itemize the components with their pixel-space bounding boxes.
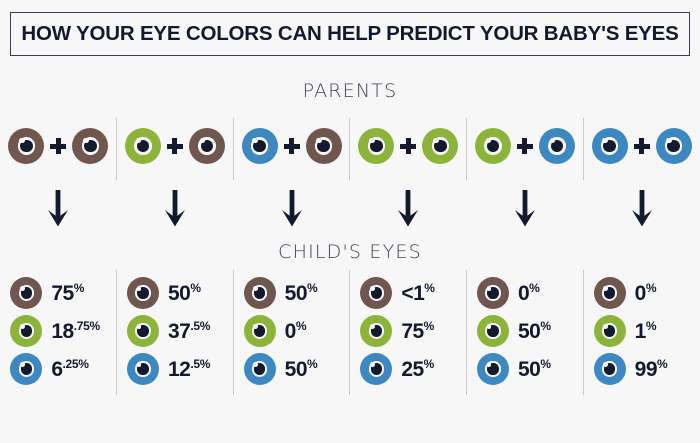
eye-sclera — [135, 361, 150, 376]
eye-glint — [602, 138, 607, 143]
title-banner: HOW YOUR EYE COLORS CAN HELP PREDICT YOU… — [10, 12, 690, 56]
eye-glint — [370, 324, 375, 329]
eye-glint — [137, 286, 142, 291]
child-result-row: 0% — [594, 277, 690, 309]
child-percentage: 0% — [518, 282, 540, 304]
plus-icon — [284, 138, 300, 154]
eye-pupil — [201, 140, 214, 153]
parent-green-eye — [358, 128, 394, 164]
child-green-eye — [477, 315, 509, 347]
eye-pupil — [604, 287, 616, 299]
plus-icon — [517, 138, 533, 154]
arrow-container — [583, 190, 700, 228]
eye-sclera — [485, 361, 500, 376]
parent-pair-3 — [233, 126, 350, 166]
parent-green-eye — [475, 128, 511, 164]
eye-sclera — [485, 323, 500, 338]
eye-sclera — [369, 285, 384, 300]
eye-glint — [20, 324, 25, 329]
down-arrow-icon — [397, 190, 419, 228]
percentage-suffix: % — [296, 319, 306, 333]
eye-pupil — [371, 287, 383, 299]
column-divider — [349, 270, 350, 395]
down-arrow-icon — [631, 190, 653, 228]
child-result-row: 25% — [360, 353, 456, 385]
child-percentage: 50% — [168, 282, 201, 304]
child-result-row: 37.5% — [127, 315, 223, 347]
eye-sclera — [252, 361, 267, 376]
child-blue-eye — [477, 353, 509, 385]
eye-sclera — [315, 137, 332, 154]
child-percentage: 50% — [285, 282, 318, 304]
prediction-column-2: 50%37.5%12.5% — [117, 0, 234, 443]
eye-pupil — [21, 363, 33, 375]
parent-pair-6 — [583, 126, 700, 166]
eye-sclera — [252, 285, 267, 300]
eye-sclera — [19, 323, 34, 338]
child-result-row: 75% — [10, 277, 106, 309]
arrow-container — [467, 190, 584, 228]
column-divider — [116, 270, 117, 395]
eye-pupil — [487, 287, 499, 299]
child-result-row: 50% — [244, 353, 340, 385]
eye-sclera — [135, 285, 150, 300]
percentage-suffix: % — [424, 281, 434, 295]
percentage-suffix: % — [529, 281, 539, 295]
child-blue-eye — [360, 353, 392, 385]
child-percentage: 6.25% — [51, 358, 88, 380]
child-result-row: 12.5% — [127, 353, 223, 385]
eye-glint — [370, 286, 375, 291]
eye-sclera — [252, 323, 267, 338]
eye-sclera — [602, 285, 617, 300]
eye-pupil — [21, 287, 33, 299]
eye-pupil — [21, 325, 33, 337]
child-result-row: 0% — [244, 315, 340, 347]
eye-glint — [487, 324, 492, 329]
eye-glint — [20, 362, 25, 367]
child-result-row: 50% — [477, 315, 573, 347]
eye-sclera — [432, 137, 449, 154]
child-eyes-section-label: CHILD'S EYES — [0, 241, 700, 263]
eye-pupil — [371, 325, 383, 337]
eye-glint — [137, 324, 142, 329]
eye-sclera — [19, 285, 34, 300]
column-divider — [583, 118, 584, 180]
child-results-3: 50%0%50% — [233, 277, 350, 385]
eye-pupil — [20, 140, 33, 153]
child-result-row: 75% — [360, 315, 456, 347]
percentage-suffix: % — [646, 281, 656, 295]
prediction-column-1: 75%18.75%6.25% — [0, 0, 117, 443]
eye-glint — [20, 286, 25, 291]
eye-glint — [253, 286, 258, 291]
percentage-suffix: .5% — [190, 319, 210, 333]
eye-pupil — [604, 325, 616, 337]
child-green-eye — [594, 315, 626, 347]
eye-pupil — [551, 140, 564, 153]
child-green-eye — [127, 315, 159, 347]
eye-glint — [253, 324, 258, 329]
parent-pair-1 — [0, 126, 117, 166]
eye-pupil — [370, 140, 383, 153]
eye-glint — [487, 362, 492, 367]
percentage-suffix: .25% — [63, 357, 89, 371]
parent-pair-5 — [467, 126, 584, 166]
eye-sclera — [601, 137, 618, 154]
arrow-container — [233, 190, 350, 228]
parent-pair-4 — [350, 126, 467, 166]
eye-glint — [666, 138, 671, 143]
child-percentage: 50% — [518, 320, 551, 342]
prediction-column-4: <1%75%25% — [350, 0, 467, 443]
eye-pupil — [137, 325, 149, 337]
eye-sclera — [368, 137, 385, 154]
eye-glint — [200, 138, 205, 143]
eye-glint — [253, 362, 258, 367]
child-results-5: 0%50%50% — [467, 277, 584, 385]
eye-pupil — [84, 140, 97, 153]
child-percentage: 1% — [635, 320, 657, 342]
eye-pupil — [667, 140, 680, 153]
percentage-suffix: % — [307, 281, 317, 295]
eye-sclera — [485, 285, 500, 300]
eye-sclera — [251, 137, 268, 154]
child-percentage: 18.75% — [51, 320, 100, 342]
plus-icon — [400, 138, 416, 154]
child-percentage: <1% — [401, 282, 434, 304]
parent-green-eye — [422, 128, 458, 164]
eye-sclera — [19, 361, 34, 376]
child-blue-eye — [594, 353, 626, 385]
eye-sclera — [484, 137, 501, 154]
eye-glint — [603, 324, 608, 329]
eye-glint — [136, 138, 141, 143]
column-divider — [233, 118, 234, 180]
child-percentage: 0% — [285, 320, 307, 342]
child-percentage: 25% — [401, 358, 434, 380]
column-divider — [233, 270, 234, 395]
eye-pupil — [371, 363, 383, 375]
child-brown-eye — [127, 277, 159, 309]
eye-glint — [19, 138, 24, 143]
parent-blue-eye — [656, 128, 692, 164]
eye-sclera — [548, 137, 565, 154]
eye-pupil — [434, 140, 447, 153]
prediction-column-3: 50%0%50% — [233, 0, 350, 443]
parent-brown-eye — [8, 128, 44, 164]
eye-pupil — [254, 287, 266, 299]
eye-sclera — [135, 323, 150, 338]
down-arrow-icon — [164, 190, 186, 228]
eye-pupil — [253, 140, 266, 153]
percentage-suffix: % — [540, 357, 550, 371]
eye-sclera — [134, 137, 151, 154]
child-percentage: 99% — [635, 358, 668, 380]
plus-icon — [50, 138, 66, 154]
parent-brown-eye — [189, 128, 225, 164]
eye-glint — [316, 138, 321, 143]
child-percentage: 37.5% — [168, 320, 210, 342]
child-green-eye — [10, 315, 42, 347]
parent-blue-eye — [539, 128, 575, 164]
arrow-container — [350, 190, 467, 228]
eye-sclera — [602, 361, 617, 376]
eye-sclera — [665, 137, 682, 154]
eye-pupil — [254, 325, 266, 337]
arrow-container — [117, 190, 234, 228]
eye-glint — [603, 362, 608, 367]
eye-sclera — [369, 361, 384, 376]
eye-glint — [137, 362, 142, 367]
parent-green-eye — [125, 128, 161, 164]
eye-glint — [486, 138, 491, 143]
child-blue-eye — [244, 353, 276, 385]
eye-sclera — [602, 323, 617, 338]
column-divider — [116, 118, 117, 180]
eye-pupil — [254, 363, 266, 375]
prediction-grid: 75%18.75%6.25%50%37.5%12.5%50%0%50%<1%75… — [0, 0, 700, 443]
eye-pupil — [603, 140, 616, 153]
parent-blue-eye — [592, 128, 628, 164]
down-arrow-icon — [514, 190, 536, 228]
child-brown-eye — [244, 277, 276, 309]
eye-pupil — [604, 363, 616, 375]
percentage-suffix: % — [646, 319, 656, 333]
child-result-row: 50% — [127, 277, 223, 309]
percentage-suffix: % — [540, 319, 550, 333]
eye-pupil — [487, 325, 499, 337]
eye-sclera — [198, 137, 215, 154]
child-green-eye — [360, 315, 392, 347]
eye-glint — [83, 138, 88, 143]
column-divider — [466, 118, 467, 180]
child-result-row: 0% — [477, 277, 573, 309]
child-result-row: 6.25% — [10, 353, 106, 385]
child-results-4: <1%75%25% — [350, 277, 467, 385]
prediction-column-5: 0%50%50% — [467, 0, 584, 443]
parents-section-label: PARENTS — [0, 80, 700, 102]
eye-sclera — [18, 137, 35, 154]
percentage-suffix: .5% — [190, 357, 210, 371]
parent-brown-eye — [306, 128, 342, 164]
eye-pupil — [137, 363, 149, 375]
plus-icon — [634, 138, 650, 154]
eye-pupil — [317, 140, 330, 153]
child-result-row: 50% — [244, 277, 340, 309]
child-percentage: 50% — [518, 358, 551, 380]
parent-pair-2 — [117, 126, 234, 166]
eye-pupil — [487, 140, 500, 153]
eye-pupil — [487, 363, 499, 375]
child-percentage: 75% — [401, 320, 434, 342]
column-divider — [466, 270, 467, 395]
percentage-suffix: % — [74, 281, 84, 295]
arrow-container — [0, 190, 117, 228]
child-percentage: 50% — [285, 358, 318, 380]
eye-glint — [252, 138, 257, 143]
prediction-column-6: 0%1%99% — [583, 0, 700, 443]
eye-pupil — [137, 140, 150, 153]
down-arrow-icon — [47, 190, 69, 228]
child-result-row: 18.75% — [10, 315, 106, 347]
percentage-suffix: .75% — [74, 319, 100, 333]
child-brown-eye — [477, 277, 509, 309]
eye-glint — [370, 362, 375, 367]
page-title: HOW YOUR EYE COLORS CAN HELP PREDICT YOU… — [21, 22, 678, 46]
column-divider — [583, 270, 584, 395]
child-percentage: 12.5% — [168, 358, 210, 380]
percentage-suffix: % — [190, 281, 200, 295]
eye-glint — [603, 286, 608, 291]
child-brown-eye — [594, 277, 626, 309]
child-green-eye — [244, 315, 276, 347]
percentage-suffix: % — [307, 357, 317, 371]
eye-pupil — [137, 287, 149, 299]
child-brown-eye — [10, 277, 42, 309]
percentage-suffix: % — [424, 319, 434, 333]
child-percentage: 0% — [635, 282, 657, 304]
plus-icon — [167, 138, 183, 154]
child-result-row: <1% — [360, 277, 456, 309]
child-results-2: 50%37.5%12.5% — [117, 277, 234, 385]
eye-glint — [487, 286, 492, 291]
eye-glint — [369, 138, 374, 143]
eye-sclera — [369, 323, 384, 338]
child-results-6: 0%1%99% — [583, 277, 700, 385]
down-arrow-icon — [281, 190, 303, 228]
child-blue-eye — [127, 353, 159, 385]
column-divider — [349, 118, 350, 180]
eye-glint — [433, 138, 438, 143]
eye-glint — [550, 138, 555, 143]
child-result-row: 50% — [477, 353, 573, 385]
child-blue-eye — [10, 353, 42, 385]
child-result-row: 1% — [594, 315, 690, 347]
child-results-1: 75%18.75%6.25% — [0, 277, 117, 385]
eye-sclera — [82, 137, 99, 154]
percentage-suffix: % — [424, 357, 434, 371]
parent-brown-eye — [72, 128, 108, 164]
child-brown-eye — [360, 277, 392, 309]
parent-blue-eye — [242, 128, 278, 164]
child-percentage: 75% — [51, 282, 84, 304]
child-result-row: 99% — [594, 353, 690, 385]
percentage-suffix: % — [657, 357, 667, 371]
